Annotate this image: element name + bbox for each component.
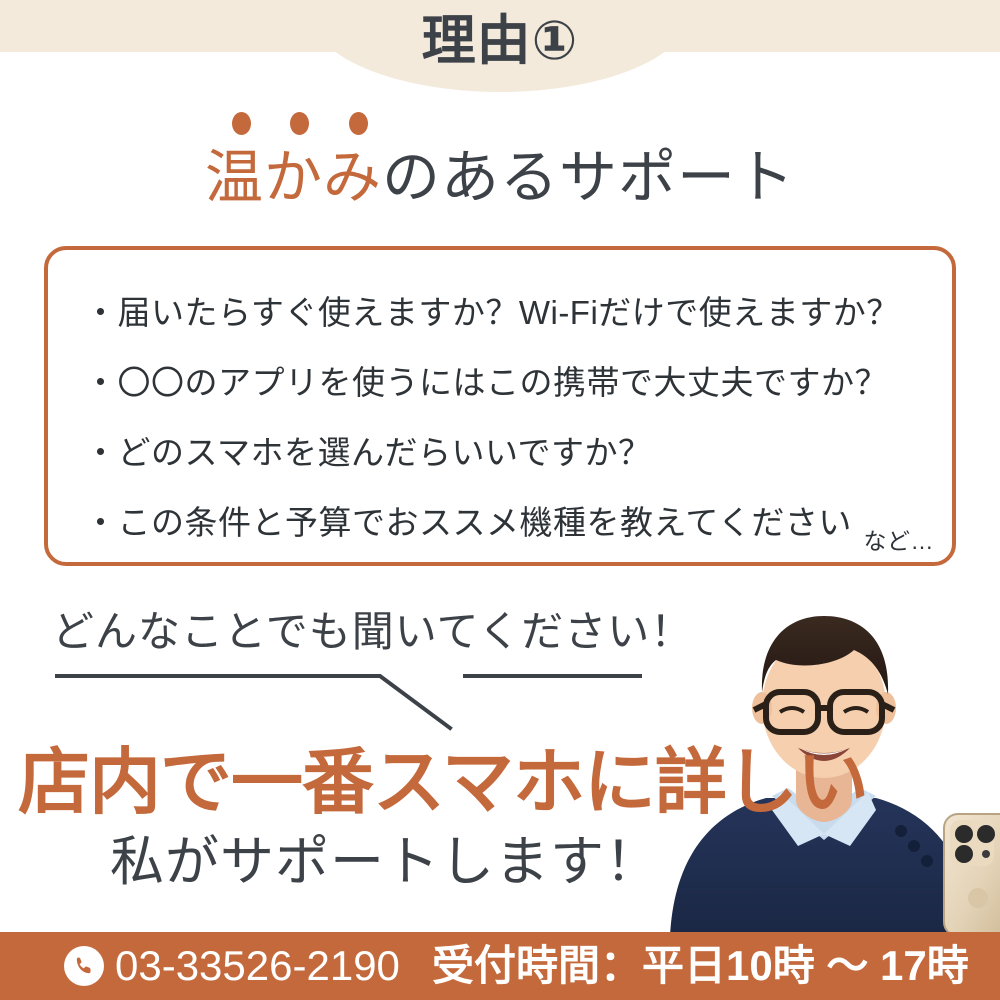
question-box: ・届いたらすぐ使えますか？Wi-Fiだけで使えますか？ ・〇〇のアプリを使うには…	[44, 246, 956, 566]
footer-bar: 03-33526-2190 受付時間：平日10時 〜 17時	[0, 932, 1000, 1000]
business-hours: 受付時間：平日10時 〜 17時	[432, 942, 969, 990]
list-item: ・この条件と予算でおススメ機種を教えてください	[84, 488, 930, 558]
main-title: 温かみのあるサポート	[0, 143, 1000, 213]
main-title-highlight: 温かみ	[205, 145, 382, 210]
emphasis-dot-icon	[290, 112, 309, 135]
poster-root: 理由① 温かみのあるサポート ・届いたらすぐ使えますか？Wi-Fiだけで使えます…	[0, 0, 1000, 1000]
emphasis-dot-icon	[349, 112, 368, 135]
phone-handset-glyph	[72, 954, 96, 978]
page-title: 理由①	[0, 10, 1000, 72]
phone-number[interactable]: 03-33526-2190	[115, 944, 400, 988]
ask-anything-text: どんなことでも聞いてください！	[52, 604, 693, 660]
speech-bubble-tail-icon	[40, 662, 660, 742]
bottom-subline: 私がサポートします！	[110, 828, 660, 896]
main-title-rest: のあるサポート	[382, 145, 795, 210]
etc-note: など…	[864, 522, 935, 556]
bottom-headline: 店内で一番スマホに詳しい	[18, 742, 868, 824]
phone-icon[interactable]	[64, 946, 104, 986]
list-item: ・どのスマホを選んだらいいですか？	[84, 418, 930, 488]
question-list: ・届いたらすぐ使えますか？Wi-Fiだけで使えますか？ ・〇〇のアプリを使うには…	[84, 278, 930, 558]
list-item: ・〇〇のアプリを使うにはこの携帯で大丈夫ですか？	[84, 348, 930, 418]
emphasis-dot-icon	[232, 112, 251, 135]
list-item: ・届いたらすぐ使えますか？Wi-Fiだけで使えますか？	[84, 278, 930, 348]
